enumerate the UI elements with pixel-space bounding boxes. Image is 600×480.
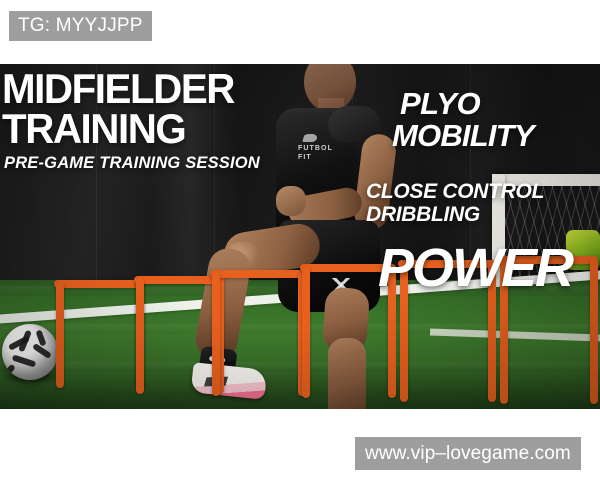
training-photo: FUTBOL FIT xyxy=(0,64,600,409)
feature-dribbling: DRIBBLING xyxy=(366,204,480,226)
puma-logo-icon xyxy=(302,130,325,142)
athlete-fist xyxy=(276,186,306,216)
subheadline: PRE-GAME TRAINING SESSION xyxy=(4,154,260,172)
feature-close-control: CLOSE CONTROL xyxy=(366,181,544,203)
headline-line-2: TRAINING xyxy=(2,108,185,150)
feature-power: POWER xyxy=(378,240,572,296)
watermark-badge: www.vip–lovegame.com xyxy=(355,437,581,470)
telegram-tag-badge: TG: MYYJJPP xyxy=(9,11,152,41)
headline-line-1: MIDFIELDER xyxy=(2,68,234,110)
feature-mobility: MOBILITY xyxy=(392,120,534,152)
athlete-standing-shin xyxy=(328,338,366,409)
feature-plyo: PLYO xyxy=(400,88,480,120)
jersey-brand-text: FUTBOL FIT xyxy=(298,144,338,153)
poster-image: FUTBOL FIT xyxy=(0,0,600,480)
soccer-ball xyxy=(2,324,58,380)
